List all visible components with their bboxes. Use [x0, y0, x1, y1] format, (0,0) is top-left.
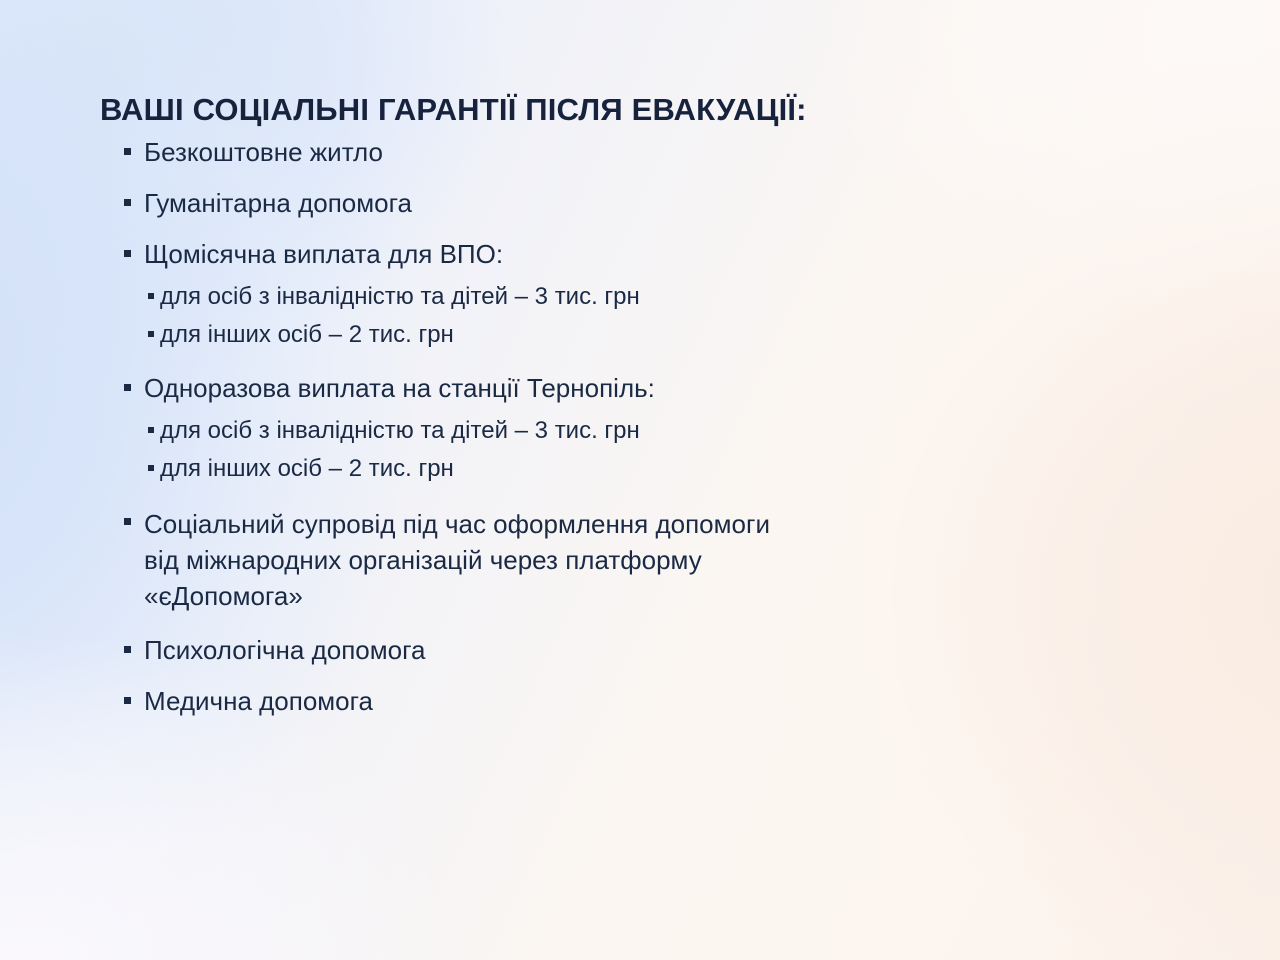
- list-item: Соціальний супровід під час оформлення д…: [0, 506, 1180, 614]
- list-item: Медична допомога: [0, 685, 1180, 718]
- list-item-label: Гуманітарна допомога: [124, 187, 412, 220]
- sub-list-item: для інших осіб – 2 тис. грн: [0, 319, 1180, 350]
- square-bullet-icon: [124, 697, 131, 704]
- square-bullet-icon: [148, 465, 154, 471]
- list-item: Психологічна допомога: [0, 634, 1180, 667]
- square-bullet-icon: [124, 384, 131, 391]
- list-item-label: Медична допомога: [124, 685, 373, 718]
- list-item: Одноразова виплата на станції Тернопіль:: [0, 372, 1180, 405]
- slide-title: ВАШІ СОЦІАЛЬНІ ГАРАНТІЇ ПІСЛЯ ЕВАКУАЦІЇ:: [100, 92, 807, 128]
- list-item: Гуманітарна допомога: [0, 187, 1180, 220]
- sub-list-item: для інших осіб – 2 тис. грн: [0, 453, 1180, 484]
- square-bullet-icon: [124, 250, 131, 257]
- square-bullet-icon: [124, 518, 131, 525]
- square-bullet-icon: [148, 427, 154, 433]
- list-item-label: Безкоштовне житло: [124, 136, 383, 169]
- list-item-label: Психологічна допомога: [124, 634, 425, 667]
- square-bullet-icon: [124, 199, 131, 206]
- list-item: Безкоштовне житло: [0, 136, 1180, 169]
- square-bullet-icon: [148, 293, 154, 299]
- square-bullet-icon: [148, 331, 154, 337]
- sub-list-item: для осіб з інвалідністю та дітей – 3 тис…: [0, 281, 1180, 312]
- sub-list-item-label: для інших осіб – 2 тис. грн: [148, 453, 454, 484]
- sub-list-item: для осіб з інвалідністю та дітей – 3 тис…: [0, 415, 1180, 446]
- sub-list-item-label: для інших осіб – 2 тис. грн: [148, 319, 454, 350]
- square-bullet-icon: [124, 646, 131, 653]
- list-item-label: Щомісячна виплата для ВПО:: [124, 238, 503, 271]
- sub-list-item-label: для осіб з інвалідністю та дітей – 3 тис…: [148, 415, 640, 446]
- sub-list-item-label: для осіб з інвалідністю та дітей – 3 тис…: [148, 281, 640, 312]
- benefits-list: Безкоштовне житлоГуманітарна допомогаЩом…: [0, 136, 1180, 736]
- slide-content: ВАШІ СОЦІАЛЬНІ ГАРАНТІЇ ПІСЛЯ ЕВАКУАЦІЇ:…: [0, 0, 1280, 960]
- list-item-label: Одноразова виплата на станції Тернопіль:: [124, 372, 655, 405]
- slide: ВАШІ СОЦІАЛЬНІ ГАРАНТІЇ ПІСЛЯ ЕВАКУАЦІЇ:…: [0, 0, 1280, 960]
- square-bullet-icon: [124, 148, 131, 155]
- list-item: Щомісячна виплата для ВПО:: [0, 238, 1180, 271]
- list-item-label: Соціальний супровід під час оформлення д…: [124, 506, 770, 614]
